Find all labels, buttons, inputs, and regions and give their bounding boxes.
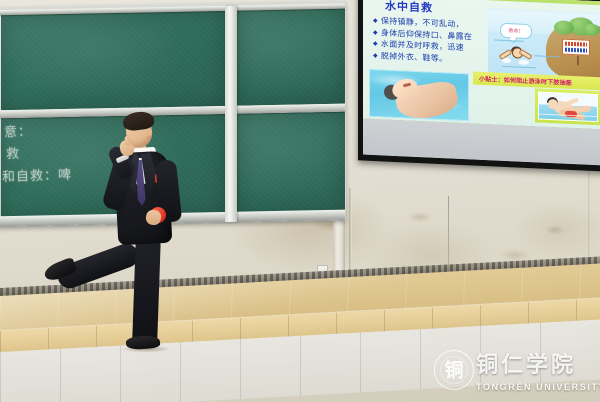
projection-screen: 水中自救 ◆保持镇静，不可乱动， ◆身体后仰保持口、鼻露在 ◆水面并及时呼救，迅…	[358, 0, 600, 172]
photo-scene: 意： 救 和自救：啤 水中自救 ◆保持镇静，不可乱动， ◆身体后仰保持口、鼻露在…	[0, 0, 600, 402]
presentation-slide: 水中自救 ◆保持镇静，不可乱动， ◆身体后仰保持口、鼻露在 ◆水面并及时呼救，迅…	[363, 0, 600, 131]
cartoon-bush	[554, 20, 574, 35]
cartoon-swimmer	[498, 44, 532, 68]
projection-surface: 水中自救 ◆保持镇静，不可乱动， ◆身体后仰保持口、鼻露在 ◆水面并及时呼救，迅…	[363, 0, 600, 165]
sign-line-red	[565, 42, 587, 47]
speaker-standing-leg	[132, 237, 161, 344]
cartoon-bush	[584, 24, 600, 37]
water-splash	[502, 58, 511, 63]
drowning-cartoon-illustration: 救命！	[487, 8, 600, 79]
bullet-dot-icon: ◆	[373, 49, 378, 60]
cartoon-warning-sign	[562, 39, 590, 56]
cramp-relief-illustration	[538, 91, 598, 122]
speaker-figure	[96, 112, 206, 342]
sign-line-blue	[565, 48, 587, 53]
cartoon-speech-bubble: 救命！	[500, 23, 532, 39]
swimmer-arm-right	[519, 49, 533, 60]
water-splash	[518, 60, 529, 65]
slide-bullet-4: 脱掉外衣、鞋等。	[381, 50, 447, 65]
speaker-ear	[146, 128, 152, 136]
bullet-dot-icon: ◆	[373, 38, 378, 49]
blackboard-panel-top-left	[1, 10, 225, 110]
bullet-dot-icon: ◆	[373, 15, 378, 26]
bullet-dot-icon: ◆	[373, 26, 378, 37]
cramp-relief-card	[535, 88, 600, 125]
back-float-photo	[369, 69, 469, 122]
slide-title: 水中自救	[385, 0, 433, 16]
cartoon-wave	[502, 66, 536, 69]
slide-bullet-list: ◆保持镇静，不可乱动， ◆身体后仰保持口、鼻露在 ◆水面并及时呼救，迅速 ◆脱掉…	[373, 15, 491, 66]
cartoon-wave	[494, 39, 524, 41]
blackboard-panel-bottom-right	[237, 112, 345, 214]
illus-head	[548, 99, 558, 109]
blackboard-divider-vertical	[225, 6, 237, 222]
blackboard-panel-top-right	[237, 8, 345, 106]
